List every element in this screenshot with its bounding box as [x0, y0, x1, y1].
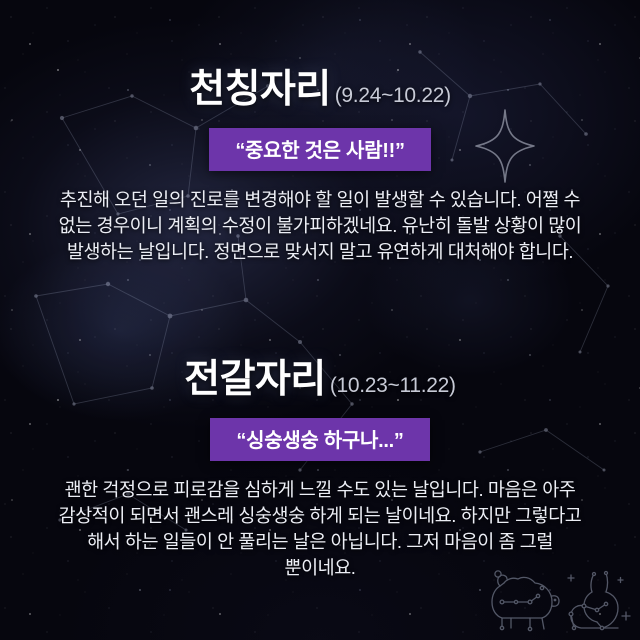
sign-fortune-text: 추진해 오던 일의 진로를 변경해야 할 일이 발생할 수 있습니다. 어쩔 수…: [52, 187, 588, 265]
card-content: 천칭자리 (9.24~10.22) “중요한 것은 사람!!” 추진해 오던 일…: [0, 0, 640, 640]
sign-date-range: (9.24~10.22): [335, 84, 451, 108]
sign-name: 전갈자리: [184, 348, 326, 404]
sign-section-libra: 천칭자리 (9.24~10.22) “중요한 것은 사람!!” 추진해 오던 일…: [0, 58, 640, 265]
sign-heading: 전갈자리 (10.23~11.22): [0, 348, 640, 404]
sign-name: 천칭자리: [189, 58, 331, 114]
sign-fortune-text: 괜한 걱정으로 피로감을 심하게 느낄 수도 있는 날입니다. 마음은 아주 감…: [52, 477, 588, 581]
sign-date-range: (10.23~11.22): [330, 374, 456, 398]
badge-row: “싱숭생숭 하구나...”: [0, 418, 640, 461]
badge-row: “중요한 것은 사람!!”: [0, 128, 640, 171]
sign-slogan-badge: “싱숭생숭 하구나...”: [210, 418, 429, 461]
sign-slogan-badge: “중요한 것은 사람!!”: [209, 128, 430, 171]
horoscope-card: 천칭자리 (9.24~10.22) “중요한 것은 사람!!” 추진해 오던 일…: [0, 0, 640, 640]
sign-section-scorpio: 전갈자리 (10.23~11.22) “싱숭생숭 하구나...” 괜한 걱정으로…: [0, 348, 640, 581]
sign-heading: 천칭자리 (9.24~10.22): [0, 58, 640, 114]
